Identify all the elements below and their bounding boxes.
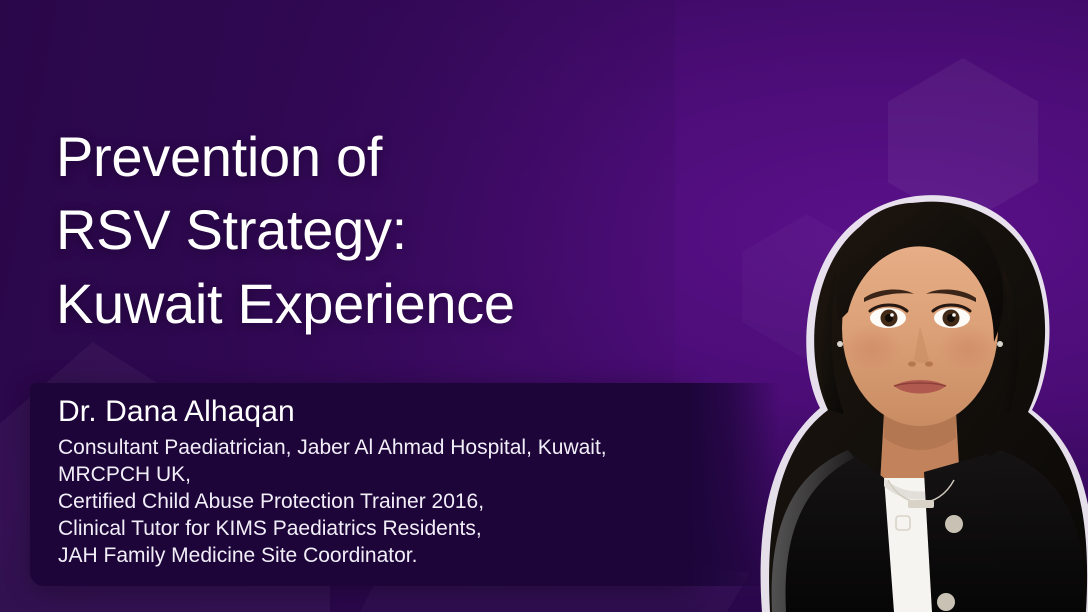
credential-line-1: Consultant Paediatrician, Jaber Al Ahmad… xyxy=(58,434,680,461)
presentation-slide: Prevention of RSV Strategy: Kuwait Exper… xyxy=(0,0,1088,612)
credential-line-2: MRCPCH UK, xyxy=(58,461,680,488)
cheek-left xyxy=(842,324,902,372)
speaker-portrait-photo xyxy=(688,112,1088,612)
nostril-left xyxy=(908,361,916,366)
speaker-credentials: Consultant Paediatrician, Jaber Al Ahmad… xyxy=(58,434,680,569)
slide-title: Prevention of RSV Strategy: Kuwait Exper… xyxy=(56,120,696,342)
credential-line-4: Clinical Tutor for KIMS Paediatrics Resi… xyxy=(58,515,680,542)
cheek-right xyxy=(938,324,998,372)
title-line-2: RSV Strategy: xyxy=(56,193,696,267)
eye-highlight-left xyxy=(890,313,894,317)
cardigan-front-panel xyxy=(924,454,998,612)
nostril-right xyxy=(925,361,933,366)
speaker-info-content: Dr. Dana Alhaqan Consultant Paediatricia… xyxy=(58,393,680,569)
earring-right xyxy=(997,341,1003,347)
speaker-info-panel: Dr. Dana Alhaqan Consultant Paediatricia… xyxy=(30,383,690,586)
title-line-1: Prevention of xyxy=(56,120,696,194)
necklace-bar-pendant xyxy=(908,500,934,508)
cardigan-button-bottom xyxy=(937,593,955,611)
portrait-illustration xyxy=(688,112,1088,612)
cardigan-button-top xyxy=(945,515,963,533)
credential-line-3: Certified Child Abuse Protection Trainer… xyxy=(58,488,680,515)
eye-highlight-right xyxy=(952,313,956,317)
earring-left xyxy=(837,341,843,347)
credential-line-5: JAH Family Medicine Site Coordinator. xyxy=(58,542,680,569)
title-line-3: Kuwait Experience xyxy=(56,267,696,341)
speaker-name: Dr. Dana Alhaqan xyxy=(58,393,680,430)
